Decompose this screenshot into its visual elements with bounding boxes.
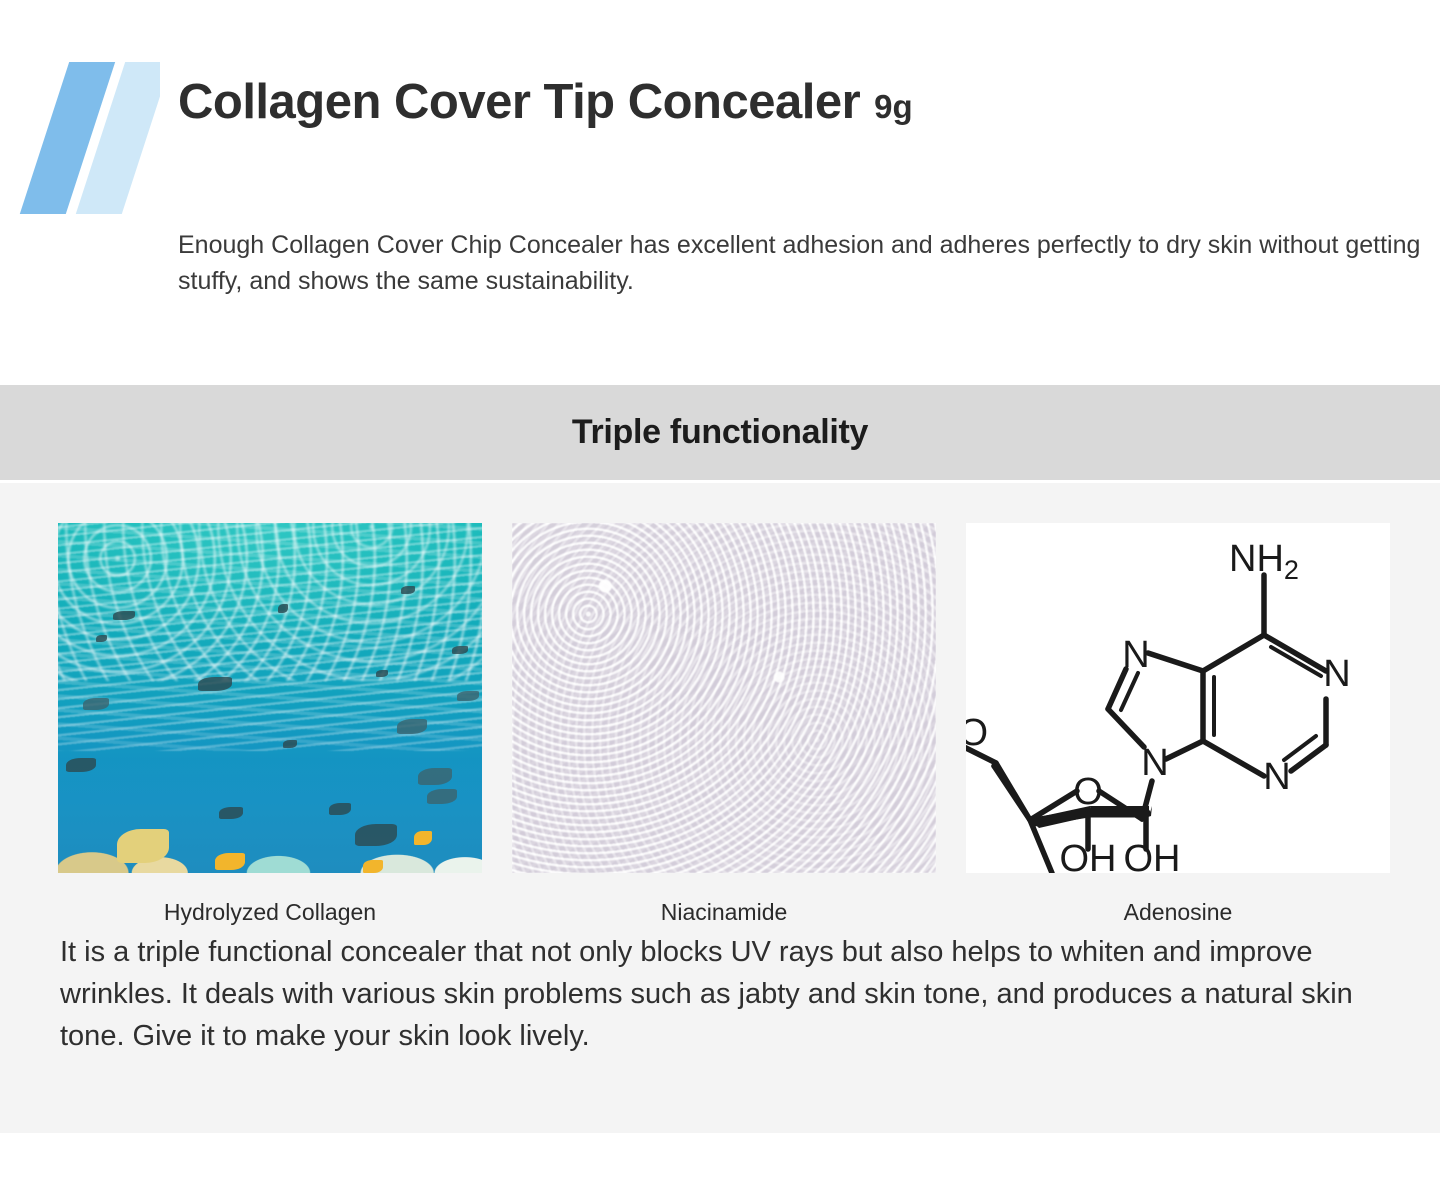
page-title: Collagen Cover Tip Concealer 9g [178,78,913,127]
fish [283,740,297,748]
label-n1: N [1323,653,1350,695]
water-sparkles [58,523,482,681]
adenosine-structure-image: NH2 N N N N O HO OH OH [966,523,1390,873]
label-ho: HO [966,712,988,754]
powder-texture [512,523,936,873]
section-body-text: It is a triple functional concealer that… [60,931,1400,1057]
fish [278,604,288,613]
underwater-reef-image [58,523,482,873]
double-slash-logo-icon [0,62,160,214]
ingredient-card: Niacinamide [512,523,936,926]
fish-yellow [117,829,169,863]
product-detail-page: Collagen Cover Tip Concealer 9g Enough C… [0,0,1445,1183]
fish [457,691,479,701]
fish [113,611,135,620]
product-description: Enough Collagen Cover Chip Concealer has… [178,228,1423,299]
label-n9: N [1141,742,1168,784]
ingredient-card: NH2 N N N N O HO OH OH Adenosine [966,523,1390,926]
product-size-label: 9g [874,90,913,123]
page-header: Collagen Cover Tip Concealer 9g Enough C… [0,0,1445,385]
white-powder-image [512,523,936,873]
label-ring-oxygen: O [1073,771,1103,813]
fish [66,758,96,772]
fish-yellow [414,831,432,845]
ingredient-card-row: Hydrolyzed Collagen Niacinamide [58,523,1390,926]
label-n7: N [1122,634,1149,676]
adenosine-molecule-diagram: NH2 N N N N O HO OH OH [966,523,1390,873]
fish-yellow [363,860,383,873]
fish [397,719,427,734]
ingredient-card: Hydrolyzed Collagen [58,523,482,926]
ingredient-caption: Niacinamide [512,899,936,926]
ingredient-caption: Adenosine [966,899,1390,926]
fish [427,789,457,804]
fish [198,677,232,691]
label-oh-left: OH [1060,838,1117,873]
label-nh2: NH2 [1229,538,1299,585]
fish-yellow [215,853,245,870]
triple-functionality-panel: Hydrolyzed Collagen Niacinamide [0,483,1440,1133]
page-title-text: Collagen Cover Tip Concealer [178,78,860,127]
fish [376,670,388,677]
label-oh-right: OH [1124,838,1181,873]
section-banner: Triple functionality [0,385,1440,480]
label-n3: N [1263,756,1290,798]
fish [452,646,468,654]
section-banner-title: Triple functionality [572,413,868,452]
ingredient-caption: Hydrolyzed Collagen [58,899,482,926]
reef-scene [58,523,482,873]
